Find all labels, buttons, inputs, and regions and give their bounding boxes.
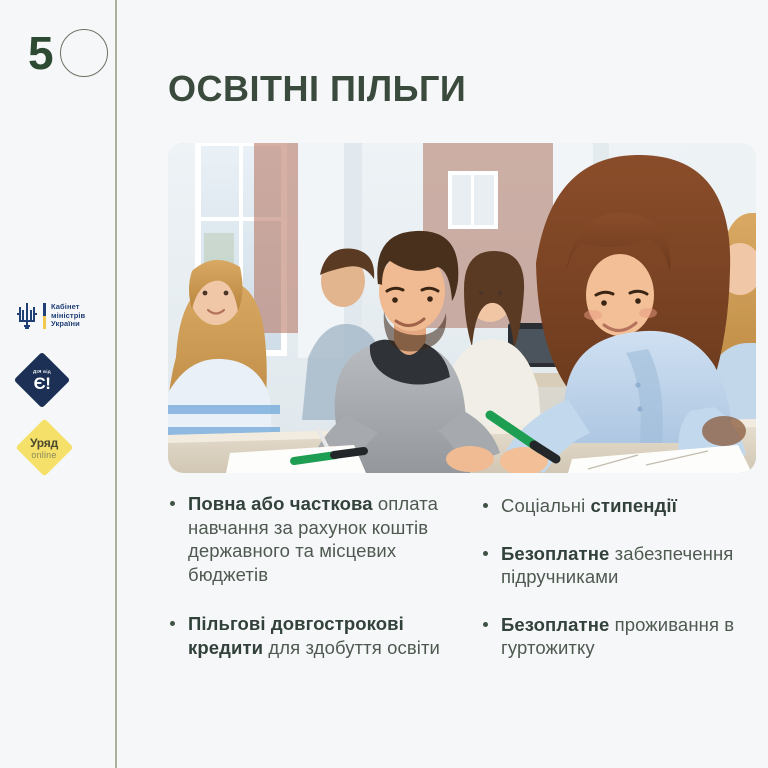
logo-uryad-sub: online <box>31 450 56 460</box>
list-item: Повна або часткова оплата навчання за ра… <box>168 492 455 586</box>
list-item: Безоплатне проживання в гуртожитку <box>481 613 768 660</box>
classroom-photo <box>168 143 756 473</box>
ukraine-trident-icon <box>16 301 38 331</box>
logo-diia-top: ДІЯ від <box>33 369 51 374</box>
bullet-dot-icon <box>170 501 175 506</box>
logo-stack: Кабінет міністрів України ДІЯ від Є! Уря… <box>16 296 112 474</box>
logo-diia-text: ДІЯ від Є! <box>16 354 68 406</box>
logo-cabinet-line3: України <box>51 320 85 329</box>
list-item: Соціальні стипендії <box>481 494 768 518</box>
list-item-bold: стипендії <box>591 495 677 516</box>
list-item-bold: Повна або часткова <box>188 493 373 514</box>
benefits-column-left: Повна або часткова оплата навчання за ра… <box>168 492 455 684</box>
gov-flag-bars-icon <box>43 303 46 329</box>
benefits-column-right: Соціальні стипендії Безоплатне забезпече… <box>481 492 768 684</box>
main-content: ОСВІТНІ ПІЛЬГИ <box>116 0 768 768</box>
benefits-list: Повна або часткова оплата навчання за ра… <box>168 492 768 684</box>
logo-cabinet-text: Кабінет міністрів України <box>51 303 85 329</box>
logo-uryad-online[interactable]: Уряд online <box>16 422 72 474</box>
left-rail: 5 <box>0 0 116 768</box>
slide-number: 5 <box>28 27 53 79</box>
logo-uryad-main: Уряд <box>30 437 58 450</box>
logo-diia[interactable]: ДІЯ від Є! <box>16 354 68 406</box>
logo-uryad-text: Уряд online <box>16 422 72 474</box>
classroom-photo-illustration <box>168 143 756 473</box>
list-item-bold: Безоплатне <box>501 614 609 635</box>
logo-cabinet-of-ministers[interactable]: Кабінет міністрів України <box>16 296 112 336</box>
list-item-bold: Безоплатне <box>501 543 609 564</box>
slide-number-badge: 5 <box>28 27 100 81</box>
page-title: ОСВІТНІ ПІЛЬГИ <box>168 68 466 110</box>
list-item: Пільгові довгострокові кредити для здобу… <box>168 612 455 659</box>
slide-root: 5 <box>0 0 768 768</box>
bullet-dot-icon <box>483 622 488 627</box>
logo-diia-main: Є! <box>34 375 51 392</box>
list-item-lead: Соціальні <box>501 495 591 516</box>
badge-circle-icon <box>60 29 108 77</box>
list-item: Безоплатне забезпечення підручниками <box>481 542 768 589</box>
bullet-dot-icon <box>170 621 175 626</box>
bullet-dot-icon <box>483 551 488 556</box>
bullet-dot-icon <box>483 503 488 508</box>
list-item-rest: для здобуття освіти <box>263 637 440 658</box>
